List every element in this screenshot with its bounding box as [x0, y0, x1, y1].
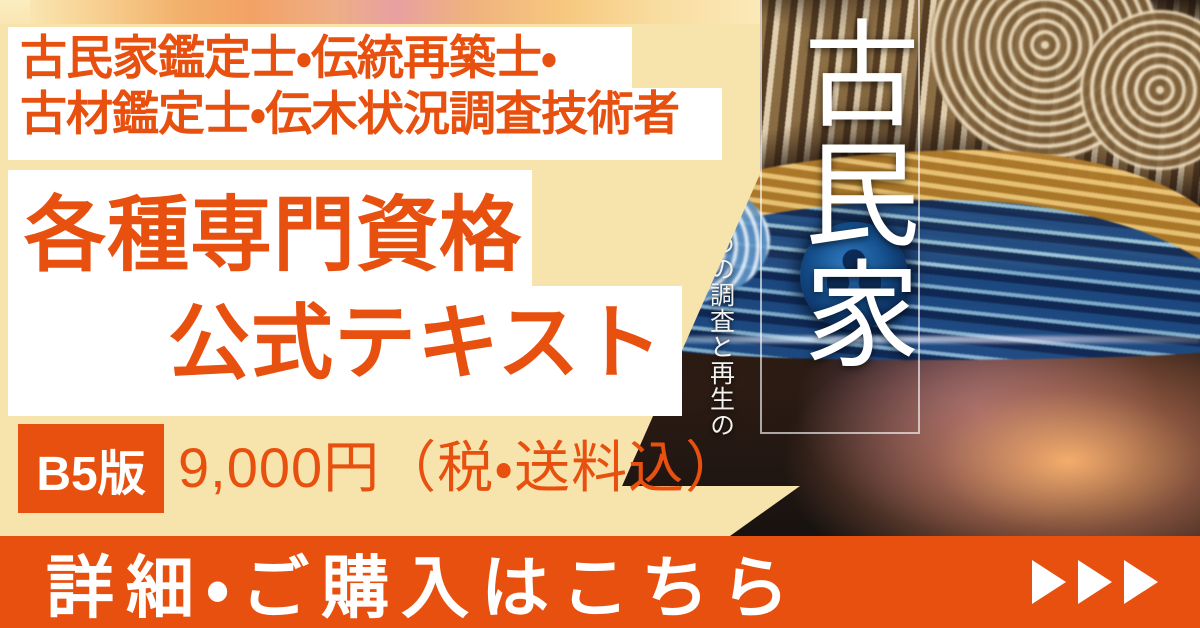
triangle-right-icon [1032, 560, 1066, 604]
cta-bar[interactable]: 詳細・ご購入はこちら [0, 536, 1200, 628]
format-badge-label: B5版 [18, 434, 164, 504]
promo-banner: 古民家 伝統構法 古民家活用のための調査と再生の 古民家鑑定士・伝統再築士・ 古… [0, 0, 1200, 628]
cta-label: 詳細・ご購入はこちら [46, 533, 801, 628]
qualifications-line-1: 古民家鑑定士・伝統再築士・ [20, 30, 720, 86]
headline-line-1: 各種専門資格 [24, 186, 522, 286]
cta-arrow-group [1032, 560, 1158, 604]
format-badge: B5版 [18, 424, 164, 513]
triangle-right-icon [1078, 560, 1112, 604]
headline-line-2: 公式テキスト [168, 294, 664, 394]
qualifications-line-2: 古材鑑定士・伝木状況調査技術者 [20, 86, 720, 142]
price-text: 9,000円（税・送料込） [178, 429, 742, 507]
cover-title: 古民家 [768, 14, 914, 434]
qualifications-text: 古民家鑑定士・伝統再築士・ 古材鑑定士・伝木状況調査技術者 [20, 30, 720, 142]
triangle-right-icon [1124, 560, 1158, 604]
